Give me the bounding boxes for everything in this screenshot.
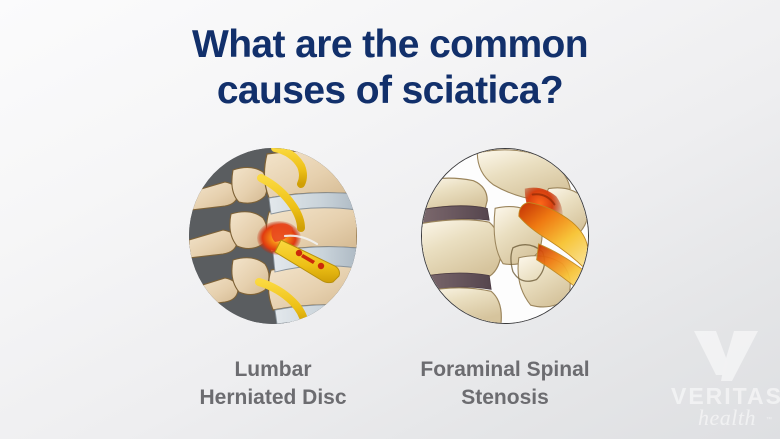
page-title: What are the common causes of sciatica? [0, 22, 780, 113]
caption-line-2: Stenosis [385, 384, 625, 412]
caption-line-1: Lumbar [153, 356, 393, 384]
figure-foraminal-spinal-stenosis [421, 148, 589, 326]
veritas-v-checkmark-icon [694, 329, 758, 381]
caption-foraminal-spinal-stenosis: Foraminal Spinal Stenosis [385, 356, 625, 412]
foraminal-spinal-stenosis-illustration [421, 148, 589, 324]
trademark-symbol: ™ [766, 417, 772, 423]
page-title-line-1: What are the common [0, 22, 780, 68]
illustration-row [0, 148, 780, 330]
caption-line-1: Foraminal Spinal [385, 356, 625, 384]
veritas-health-watermark: VERITAS health ™ [668, 329, 780, 433]
page-title-line-2: causes of sciatica? [0, 68, 780, 114]
caption-lumbar-herniated-disc: Lumbar Herniated Disc [153, 356, 393, 412]
caption-line-2: Herniated Disc [153, 384, 393, 412]
figure-lumbar-herniated-disc [189, 148, 357, 326]
health-wordmark: health [668, 405, 780, 431]
lumbar-herniated-disc-illustration [189, 148, 357, 324]
